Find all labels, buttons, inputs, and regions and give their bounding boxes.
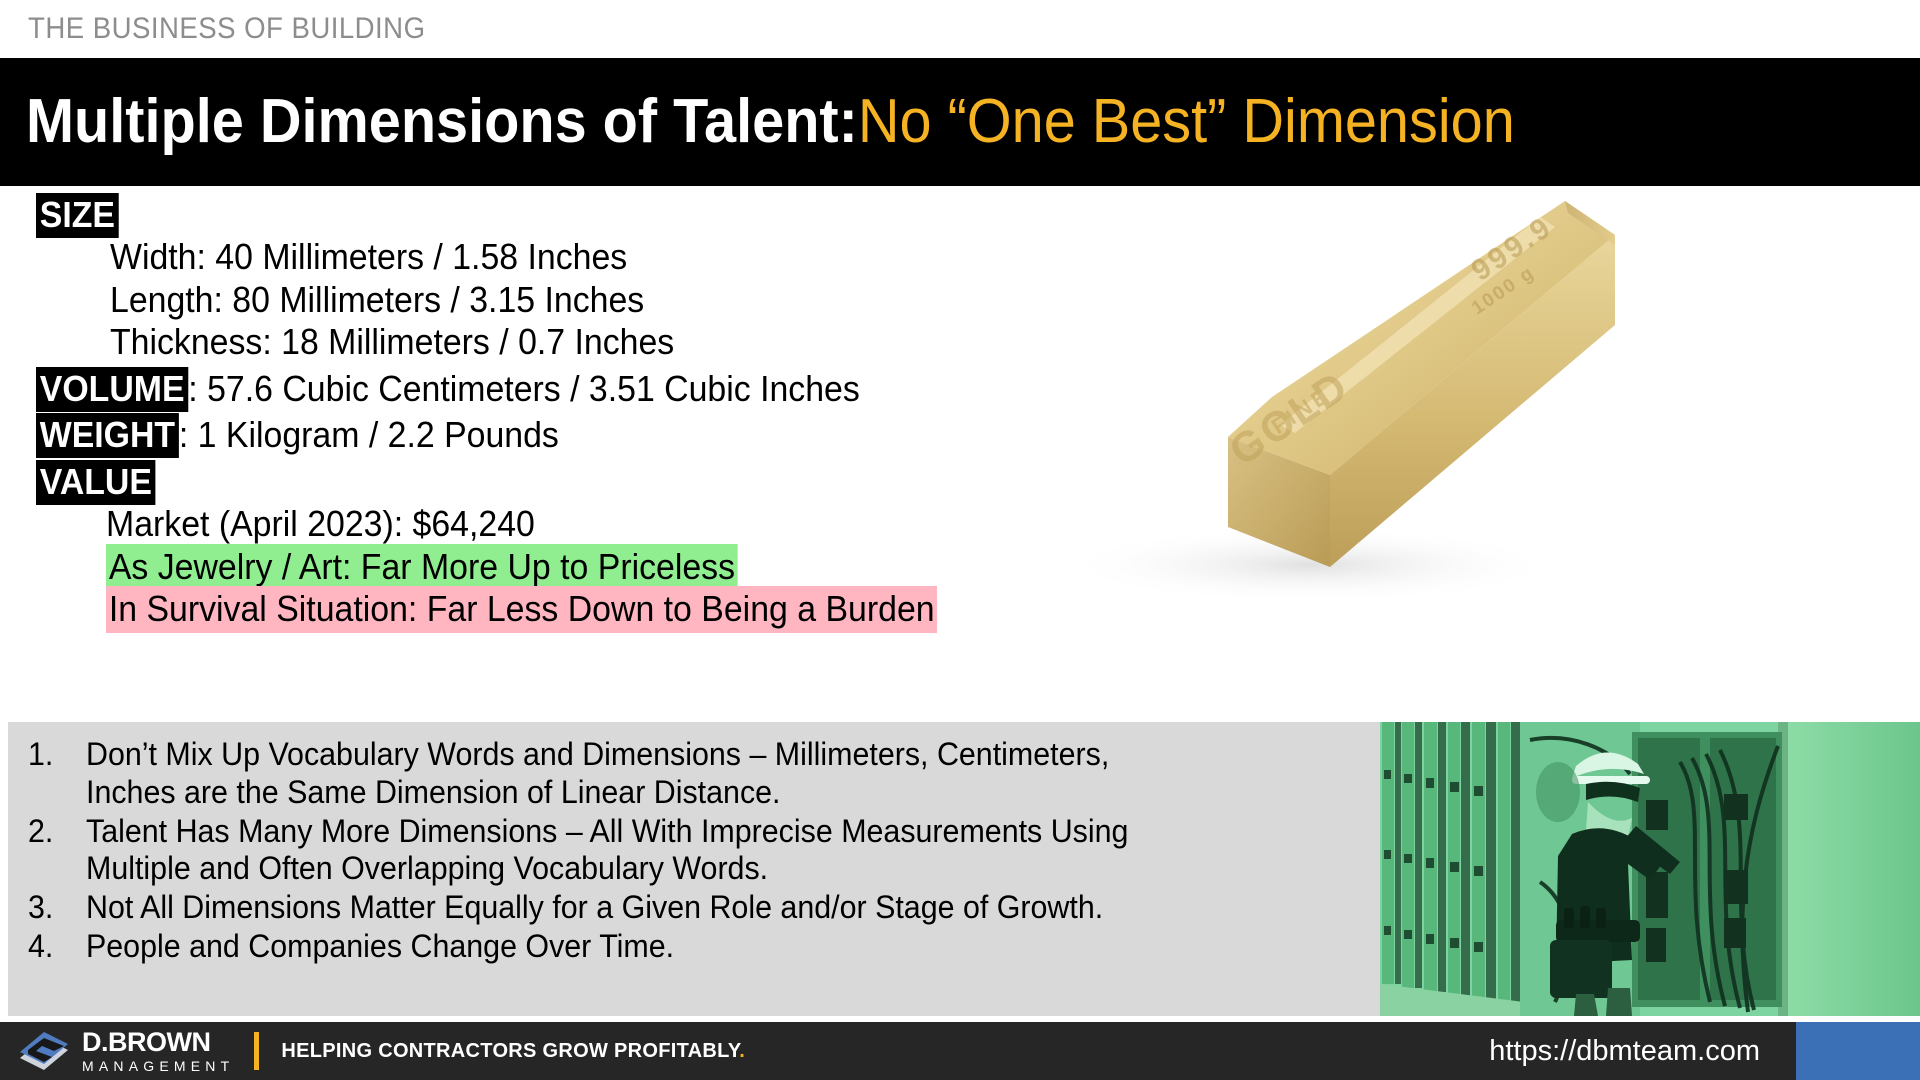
brand-lockup: D.BROWN MANAGEMENT bbox=[82, 1029, 234, 1073]
spec-volume-row: VOLUME: 57.6 Cubic Centimeters / 3.51 Cu… bbox=[36, 368, 1036, 410]
gold-bar-svg: 999.9 1000 g FINE GOLD bbox=[980, 175, 1680, 615]
list-item-number: 3. bbox=[28, 889, 83, 927]
list-item-number: 4. bbox=[28, 928, 83, 966]
list-item-number: 2. bbox=[28, 813, 83, 851]
page-title: Multiple Dimensions of Talent:No “One Be… bbox=[26, 91, 1515, 153]
footer-accent-block bbox=[1796, 1022, 1920, 1080]
spec-weight-value: : 1 Kilogram / 2.2 Pounds bbox=[179, 414, 559, 455]
brand-name: D.BROWN bbox=[82, 1029, 234, 1056]
list-item: 4. People and Companies Change Over Time… bbox=[28, 928, 1364, 966]
spec-block: SIZE Width: 40 Millimeters / 1.58 Inches… bbox=[0, 190, 1100, 631]
page-title-separator: : bbox=[839, 87, 858, 156]
spec-volume-label: VOLUME bbox=[36, 367, 188, 412]
kicker-text: THE BUSINESS OF BUILDING bbox=[28, 12, 426, 46]
list-item-number: 1. bbox=[28, 736, 83, 774]
footer-url[interactable]: https://dbmteam.com bbox=[1489, 1035, 1760, 1068]
footer-tagline-text: HELPING CONTRACTORS GROW PROFITABLY bbox=[281, 1040, 739, 1062]
spec-value-jewelry: As Jewelry / Art: Far More Up to Pricele… bbox=[106, 544, 738, 591]
spec-value-survival-row: In Survival Situation: Far Less Down to … bbox=[106, 588, 1040, 630]
list-item: 1. Don’t Mix Up Vocabulary Words and Dim… bbox=[28, 736, 1364, 812]
spec-value-label: VALUE bbox=[36, 460, 156, 505]
footer-tagline: HELPING CONTRACTORS GROW PROFITABLY. bbox=[281, 1040, 745, 1063]
page-title-main: Multiple Dimensions of Talent bbox=[26, 87, 839, 156]
spec-weight-row: WEIGHT: 1 Kilogram / 2.2 Pounds bbox=[36, 414, 1036, 456]
footer-divider bbox=[254, 1032, 259, 1070]
spec-weight-label: WEIGHT bbox=[36, 413, 179, 458]
spec-volume-value: : 57.6 Cubic Centimeters / 3.51 Cubic In… bbox=[188, 368, 859, 409]
list-item: 3. Not All Dimensions Matter Equally for… bbox=[28, 889, 1364, 927]
list-item-text: People and Companies Change Over Time. bbox=[86, 928, 674, 966]
footer-tagline-dot: . bbox=[739, 1040, 745, 1062]
brand-subtitle: MANAGEMENT bbox=[82, 1059, 234, 1073]
spec-size-length: Length: 80 Millimeters / 3.15 Inches bbox=[110, 279, 1041, 321]
kicker-bar: THE BUSINESS OF BUILDING bbox=[0, 0, 1920, 58]
list-item-text: Don’t Mix Up Vocabulary Words and Dimens… bbox=[86, 736, 1109, 812]
spec-value-market: Market (April 2023): $64,240 bbox=[106, 503, 1040, 545]
takeaways-panel: 1. Don’t Mix Up Vocabulary Words and Dim… bbox=[8, 722, 1380, 1016]
spec-value-jewelry-row: As Jewelry / Art: Far More Up to Pricele… bbox=[106, 546, 1040, 588]
spec-value-heading: VALUE bbox=[36, 461, 1036, 503]
gold-bar-illustration: 999.9 1000 g FINE GOLD bbox=[980, 175, 1680, 615]
list-item-text: Talent Has Many More Dimensions – All Wi… bbox=[86, 813, 1128, 889]
page-title-accent: No “One Best” Dimension bbox=[858, 87, 1515, 156]
footer-bar: D.BROWN MANAGEMENT HELPING CONTRACTORS G… bbox=[0, 1022, 1920, 1080]
electrician-photo-svg bbox=[1380, 722, 1920, 1016]
spec-size-label: SIZE bbox=[36, 193, 119, 238]
spec-size-heading: SIZE bbox=[36, 194, 1036, 236]
list-item-text: Not All Dimensions Matter Equally for a … bbox=[86, 889, 1103, 927]
electrician-photo bbox=[1380, 722, 1920, 1016]
spec-size-width: Width: 40 Millimeters / 1.58 Inches bbox=[110, 236, 1041, 278]
spec-value-survival: In Survival Situation: Far Less Down to … bbox=[106, 586, 937, 633]
title-bar: Multiple Dimensions of Talent:No “One Be… bbox=[0, 58, 1920, 186]
list-item: 2. Talent Has Many More Dimensions – All… bbox=[28, 813, 1364, 889]
spec-size-thickness: Thickness: 18 Millimeters / 0.7 Inches bbox=[110, 321, 1041, 363]
dbrown-logo-icon bbox=[16, 1028, 72, 1074]
